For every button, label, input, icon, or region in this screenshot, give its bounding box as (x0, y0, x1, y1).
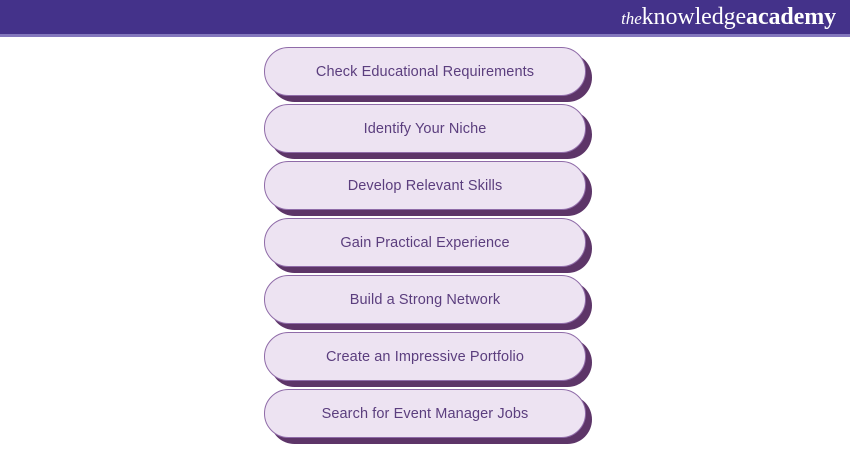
brand-logo[interactable]: theknowledgeacademy (621, 5, 836, 29)
list-item[interactable]: Search for Event Manager Jobs (264, 389, 586, 438)
list-item[interactable]: Identify Your Niche (264, 104, 586, 153)
steps-list: Check Educational Requirements Identify … (0, 47, 850, 446)
list-item[interactable]: Create an Impressive Portfolio (264, 332, 586, 381)
logo-text-academy: academy (746, 5, 836, 29)
step-button-4[interactable]: Gain Practical Experience (264, 218, 586, 267)
step-button-2[interactable]: Identify Your Niche (264, 104, 586, 153)
list-item[interactable]: Build a Strong Network (264, 275, 586, 324)
header-underline-divider (0, 34, 850, 37)
step-button-1[interactable]: Check Educational Requirements (264, 47, 586, 96)
logo-text-the: the (621, 10, 641, 27)
logo-text-knowledge: knowledge (642, 5, 746, 29)
step-button-5[interactable]: Build a Strong Network (264, 275, 586, 324)
list-item[interactable]: Gain Practical Experience (264, 218, 586, 267)
step-button-7[interactable]: Search for Event Manager Jobs (264, 389, 586, 438)
step-button-6[interactable]: Create an Impressive Portfolio (264, 332, 586, 381)
step-button-3[interactable]: Develop Relevant Skills (264, 161, 586, 210)
header-bar: theknowledgeacademy (0, 0, 850, 34)
list-item[interactable]: Develop Relevant Skills (264, 161, 586, 210)
list-item[interactable]: Check Educational Requirements (264, 47, 586, 96)
